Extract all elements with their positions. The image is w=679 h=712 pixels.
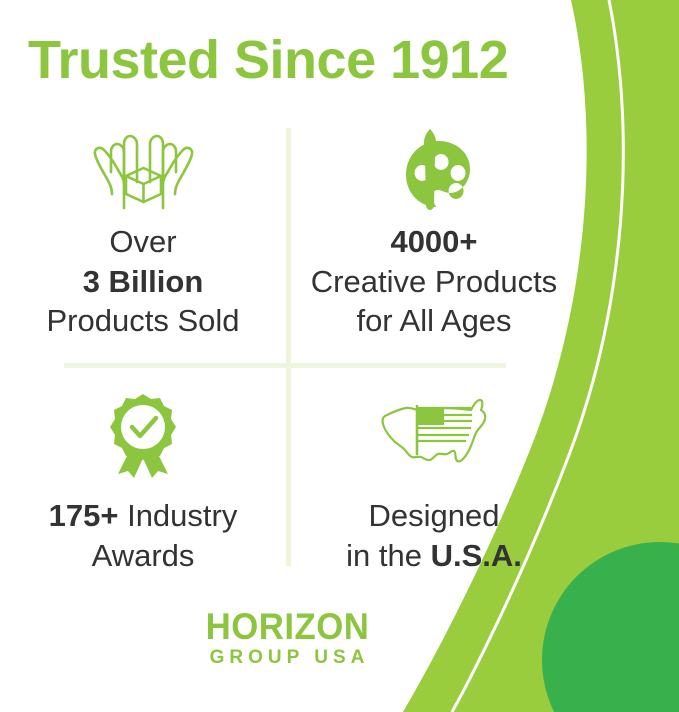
hands-holding-box-icon (0, 128, 286, 214)
stat-line-1: Over (109, 224, 176, 259)
page-title: Trusted Since 1912 (28, 32, 588, 89)
stat-text: 4000+ Creative Products for All Ages (291, 222, 577, 341)
stat-text: Over 3 Billion Products Sold (0, 222, 286, 341)
paint-palette-brush-icon (291, 122, 577, 214)
stat-line-3: Products Sold (47, 303, 240, 338)
stat-line-3: U.S.A. (431, 538, 522, 573)
divider-horizontal (64, 363, 506, 368)
stat-line-3: for All Ages (356, 303, 511, 338)
stat-line-2: Industry (118, 498, 237, 533)
award-ribbon-check-icon (0, 392, 286, 478)
stat-block-designed-usa: Designed in the U.S.A. (291, 392, 577, 575)
logo-tagline: GROUP USA (4, 645, 575, 671)
usa-map-flag-icon (291, 392, 577, 478)
stat-block-industry-awards: 175+ Industry Awards (0, 392, 286, 575)
stat-line-2: Creative Products (311, 264, 557, 299)
swoosh-white-line (452, 0, 623, 712)
stat-line-1: Designed (369, 498, 500, 533)
swoosh-band (403, 0, 679, 712)
stat-text: 175+ Industry Awards (0, 496, 286, 575)
brand-logo: HORIZON GROUP USA (0, 608, 575, 671)
stat-line-3: Awards (92, 538, 195, 573)
stat-line-2: 3 Billion (83, 264, 204, 299)
logo-wordmark: HORIZON (17, 608, 558, 645)
stat-line-1: 175+ (49, 498, 119, 533)
stat-line-2: in the (346, 538, 430, 573)
infographic-canvas: Trusted Since 1912 Over 3 (0, 0, 679, 712)
stat-block-creative-products: 4000+ Creative Products for All Ages (291, 122, 577, 341)
stat-block-products-sold: Over 3 Billion Products Sold (0, 128, 286, 341)
stat-text: Designed in the U.S.A. (291, 496, 577, 575)
stat-line-1: 4000+ (390, 224, 477, 259)
